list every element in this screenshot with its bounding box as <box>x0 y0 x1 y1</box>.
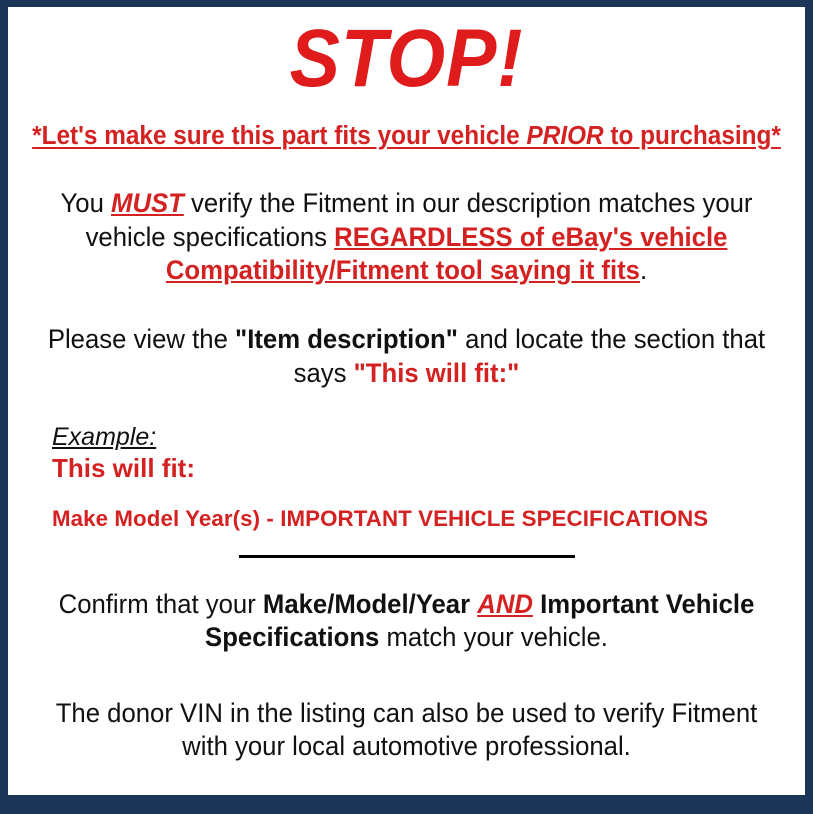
must-part1: You <box>61 188 112 218</box>
example-fit-heading: This will fit: <box>52 454 799 484</box>
and-emphasis: AND <box>477 589 533 619</box>
must-part3: . <box>640 255 647 285</box>
example-block: Example: This will fit: Make Model Year(… <box>14 424 799 532</box>
must-verify-paragraph: You MUST verify the Fitment in our descr… <box>26 187 787 287</box>
item-description-emphasis: "Item description" <box>235 324 458 354</box>
tagline-suffix: to purchasing* <box>604 122 781 150</box>
make-model-year-emphasis: Make/Model/Year <box>263 589 470 619</box>
fitment-tagline: *Let's make sure this part fits your veh… <box>32 122 782 151</box>
example-spec-line: Make Model Year(s) - IMPORTANT VEHICLE S… <box>52 507 792 532</box>
donor-vin-paragraph: The donor VIN in the listing can also be… <box>26 697 787 764</box>
confirm-part2: match your vehicle. <box>379 622 608 652</box>
confirm-part1: Confirm that your <box>59 589 263 619</box>
tagline-emphasis-prior: PRIOR <box>526 122 603 150</box>
this-will-fit-quote: "This will fit:" <box>354 358 520 388</box>
confirm-paragraph: Confirm that your Make/Model/Year AND Im… <box>26 588 787 655</box>
please-part1: Please view the <box>48 324 235 354</box>
please-view-paragraph: Please view the "Item description" and l… <box>26 323 787 390</box>
must-emphasis: MUST <box>111 188 184 218</box>
section-divider <box>14 555 799 558</box>
tagline-prefix: *Let's make sure this part fits your veh… <box>32 122 526 150</box>
stop-heading: STOP! <box>45 18 767 100</box>
example-label: Example: <box>52 424 799 450</box>
thank-you-line: Thank you for confirming Fitment! <box>26 792 787 814</box>
divider-line <box>239 555 575 558</box>
fitment-notice-frame: STOP! *Let's make sure this part fits yo… <box>0 0 813 814</box>
notice-body: STOP! *Let's make sure this part fits yo… <box>8 7 805 795</box>
